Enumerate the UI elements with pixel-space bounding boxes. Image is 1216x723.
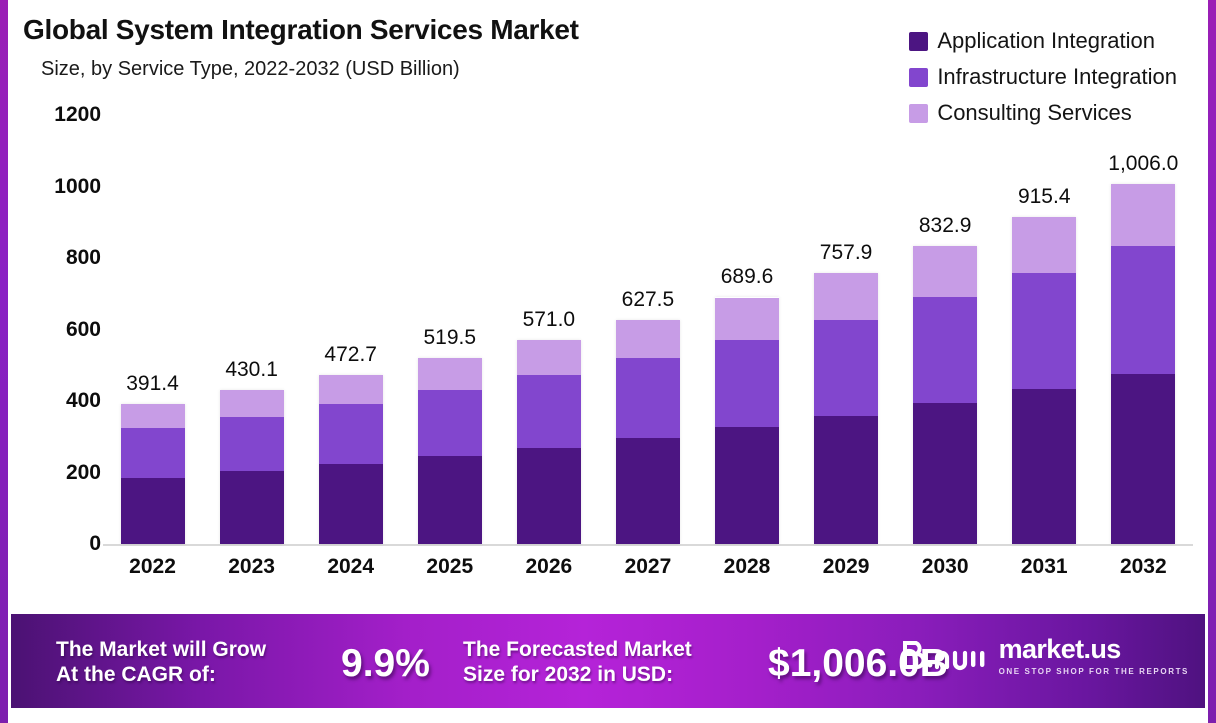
- x-axis-tick-label: 2032: [1094, 555, 1193, 591]
- y-axis: 020040060080010001200: [11, 115, 101, 555]
- x-axis-tick-label: 2023: [202, 555, 301, 591]
- brand-wordmark: market.us ONE STOP SHOP FOR THE REPORTS: [999, 636, 1189, 676]
- brand-tagline: ONE STOP SHOP FOR THE REPORTS: [999, 667, 1189, 676]
- bar-segment-consulting-services[interactable]: [418, 358, 482, 390]
- y-axis-tick-label: 1000: [15, 175, 101, 199]
- cagr-caption: The Market will Grow At the CAGR of:: [56, 638, 266, 688]
- bar-value-label: 689.6: [698, 265, 797, 289]
- forecast-caption: The Forecasted Market Size for 2032 in U…: [463, 638, 692, 688]
- bar-value-label: 832.9: [896, 214, 995, 238]
- stacked-bar[interactable]: [418, 358, 482, 544]
- bar-segment-application-integration[interactable]: [220, 471, 284, 544]
- bar-segment-infrastructure-integration[interactable]: [418, 390, 482, 456]
- bar-segment-application-integration[interactable]: [418, 456, 482, 544]
- bar-group: 391.4430.1472.7519.5571.0627.5689.6757.9…: [103, 115, 1193, 544]
- y-axis-tick-label: 600: [15, 318, 101, 342]
- brand-mark-icon: [903, 639, 989, 673]
- bar-segment-infrastructure-integration[interactable]: [1012, 273, 1076, 389]
- bar-segment-infrastructure-integration[interactable]: [517, 375, 581, 448]
- bar-value-label: 627.5: [598, 288, 697, 312]
- bar-segment-infrastructure-integration[interactable]: [814, 320, 878, 416]
- x-axis-tick-label: 2022: [103, 555, 202, 591]
- forecast-caption-line1: The Forecasted Market: [463, 638, 692, 663]
- stacked-bar[interactable]: [814, 273, 878, 544]
- y-axis-tick-label: 1200: [15, 103, 101, 127]
- bar-segment-consulting-services[interactable]: [220, 390, 284, 416]
- bar-column[interactable]: 757.9: [797, 115, 896, 544]
- bar-column[interactable]: 627.5: [598, 115, 697, 544]
- bar-segment-consulting-services[interactable]: [319, 375, 383, 404]
- legend-item-label: Application Integration: [937, 28, 1155, 54]
- bar-segment-application-integration[interactable]: [1012, 389, 1076, 544]
- bar-column[interactable]: 915.4: [995, 115, 1094, 544]
- bar-segment-consulting-services[interactable]: [1111, 184, 1175, 246]
- bar-segment-application-integration[interactable]: [319, 464, 383, 544]
- bar-segment-application-integration[interactable]: [616, 438, 680, 544]
- legend-item-label: Infrastructure Integration: [937, 64, 1177, 90]
- bar-segment-infrastructure-integration[interactable]: [1111, 246, 1175, 374]
- y-axis-tick-label: 0: [15, 532, 101, 556]
- x-axis-tick-label: 2030: [896, 555, 995, 591]
- left-accent-strip: [0, 0, 8, 723]
- y-axis-tick-label: 800: [15, 246, 101, 270]
- brand-name: market.us: [999, 636, 1189, 663]
- x-axis-tick-label: 2026: [499, 555, 598, 591]
- bar-column[interactable]: 689.6: [698, 115, 797, 544]
- bar-segment-infrastructure-integration[interactable]: [913, 297, 977, 403]
- y-axis-tick-label: 200: [15, 461, 101, 485]
- bar-segment-application-integration[interactable]: [121, 478, 185, 544]
- cagr-caption-line1: The Market will Grow: [56, 638, 266, 663]
- bar-segment-infrastructure-integration[interactable]: [616, 358, 680, 438]
- bar-value-label: 757.9: [797, 241, 896, 265]
- bar-segment-consulting-services[interactable]: [814, 273, 878, 320]
- bar-column[interactable]: 571.0: [499, 115, 598, 544]
- legend-swatch-icon: [909, 68, 928, 87]
- bar-segment-infrastructure-integration[interactable]: [121, 428, 185, 478]
- x-axis-tick-label: 2025: [400, 555, 499, 591]
- x-axis-tick-label: 2028: [698, 555, 797, 591]
- bar-segment-infrastructure-integration[interactable]: [319, 404, 383, 464]
- legend-swatch-icon: [909, 32, 928, 51]
- x-axis-tick-label: 2031: [995, 555, 1094, 591]
- bar-column[interactable]: 1,006.0: [1094, 115, 1193, 544]
- bar-column[interactable]: 430.1: [202, 115, 301, 544]
- bar-segment-application-integration[interactable]: [715, 427, 779, 544]
- x-axis-baseline: [103, 544, 1193, 546]
- stacked-bar[interactable]: [319, 375, 383, 544]
- bar-segment-consulting-services[interactable]: [616, 320, 680, 359]
- cagr-value: 9.9%: [341, 642, 430, 686]
- bar-value-label: 391.4: [103, 372, 202, 396]
- cagr-caption-line2: At the CAGR of:: [56, 663, 266, 688]
- stacked-bar[interactable]: [220, 390, 284, 544]
- y-axis-tick-label: 400: [15, 389, 101, 413]
- bar-segment-application-integration[interactable]: [1111, 374, 1175, 544]
- stacked-bar[interactable]: [1012, 217, 1076, 544]
- x-axis-tick-label: 2029: [797, 555, 896, 591]
- plot-area: 020040060080010001200 391.4430.1472.7519…: [11, 115, 1205, 605]
- chart-infographic: Global System Integration Services Marke…: [0, 0, 1216, 723]
- legend-item[interactable]: Application Integration: [909, 24, 1155, 58]
- bar-column[interactable]: 472.7: [301, 115, 400, 544]
- stacked-bar[interactable]: [517, 340, 581, 544]
- stacked-bar[interactable]: [1111, 184, 1175, 544]
- bar-value-label: 472.7: [301, 343, 400, 367]
- bar-segment-consulting-services[interactable]: [715, 298, 779, 340]
- x-axis: 2022202320242025202620272028202920302031…: [103, 555, 1193, 591]
- bar-segment-application-integration[interactable]: [814, 416, 878, 544]
- bar-segment-consulting-services[interactable]: [1012, 217, 1076, 273]
- bar-column[interactable]: 832.9: [896, 115, 995, 544]
- chart-subtitle: Size, by Service Type, 2022-2032 (USD Bi…: [41, 58, 460, 81]
- right-accent-strip-inner: [1205, 0, 1208, 723]
- stacked-bar[interactable]: [121, 404, 185, 544]
- summary-banner: The Market will Grow At the CAGR of: 9.9…: [11, 614, 1205, 708]
- forecast-caption-line2: Size for 2032 in USD:: [463, 663, 692, 688]
- legend-item[interactable]: Infrastructure Integration: [909, 60, 1177, 94]
- chart-title: Global System Integration Services Marke…: [23, 14, 579, 46]
- right-accent-strip: [1208, 0, 1216, 723]
- bar-value-label: 519.5: [400, 326, 499, 350]
- x-axis-tick-label: 2027: [598, 555, 697, 591]
- bar-value-label: 571.0: [499, 308, 598, 332]
- stacked-bar[interactable]: [616, 320, 680, 544]
- bar-segment-infrastructure-integration[interactable]: [715, 340, 779, 428]
- bar-column[interactable]: 391.4: [103, 115, 202, 544]
- bar-segment-consulting-services[interactable]: [913, 246, 977, 297]
- bar-value-label: 915.4: [995, 185, 1094, 209]
- bar-value-label: 430.1: [202, 358, 301, 382]
- stacked-bar[interactable]: [913, 246, 977, 544]
- bar-segment-consulting-services[interactable]: [121, 404, 185, 428]
- bar-segment-application-integration[interactable]: [913, 403, 977, 544]
- x-axis-tick-label: 2024: [301, 555, 400, 591]
- market-us-logo[interactable]: market.us ONE STOP SHOP FOR THE REPORTS: [903, 636, 1189, 676]
- bar-value-label: 1,006.0: [1094, 152, 1193, 176]
- bar-segment-application-integration[interactable]: [517, 448, 581, 544]
- bar-column[interactable]: 519.5: [400, 115, 499, 544]
- bar-segment-consulting-services[interactable]: [517, 340, 581, 375]
- bar-segment-infrastructure-integration[interactable]: [220, 417, 284, 472]
- stacked-bar[interactable]: [715, 297, 779, 544]
